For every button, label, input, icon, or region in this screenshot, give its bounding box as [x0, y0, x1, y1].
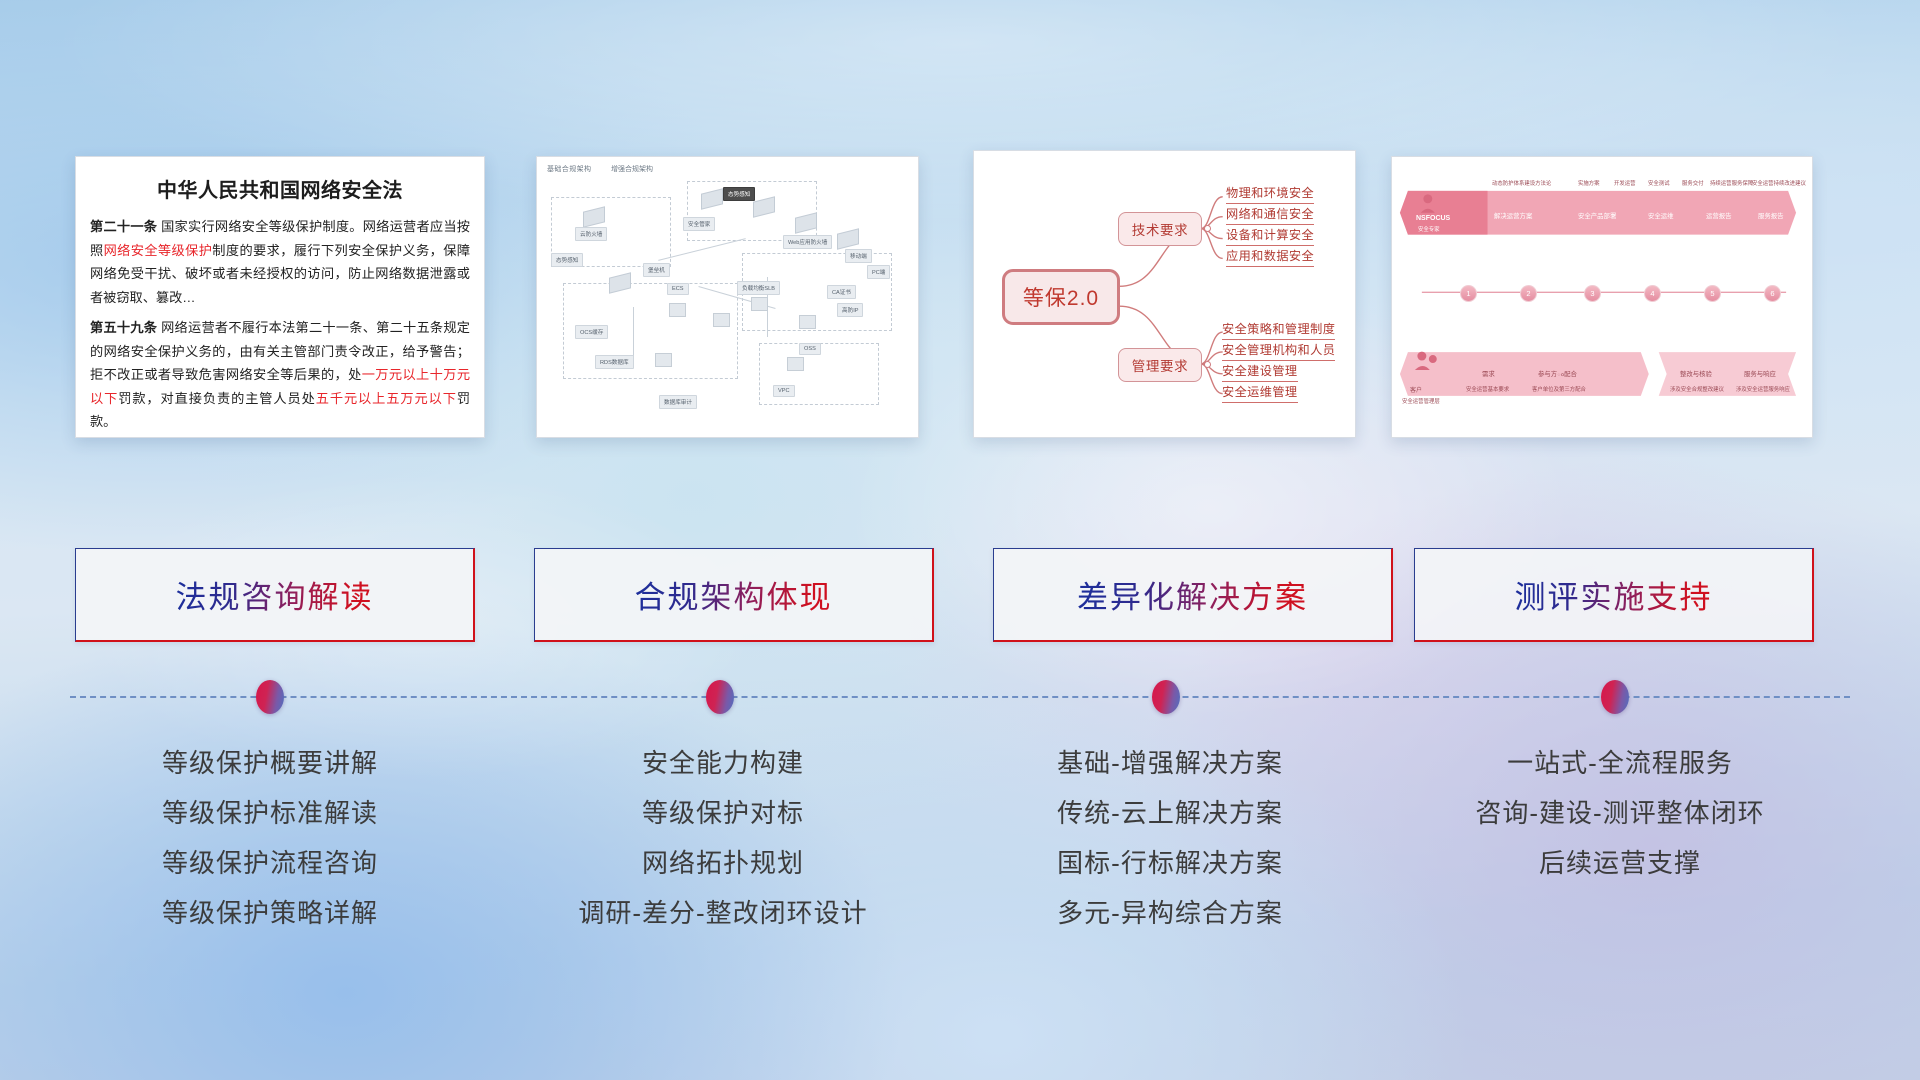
arch-chip-13: RDS数据库	[595, 355, 634, 369]
flow-band-label-4: 服务报告	[1758, 211, 1784, 220]
flow-diagram	[1392, 157, 1812, 438]
timeline-dot-3[interactable]	[1152, 680, 1180, 714]
feature-list-4: 一站式-全流程服务 咨询-建设-测评整体闭环 后续运营支撑	[1420, 738, 1820, 888]
arch-node-11	[655, 353, 672, 367]
mindmap-leaf-m3: 安全建设管理	[1222, 361, 1298, 382]
flow-bottom-sub-0: 安全运营基本要求	[1466, 385, 1509, 393]
arch-node-9	[751, 297, 768, 311]
feature-list-2: 安全能力构建 等级保护对标 网络拓扑规划 调研-差分-整改闭环设计	[523, 738, 923, 938]
list-item: 调研-差分-整改闭环设计	[523, 888, 923, 938]
list-item: 一站式-全流程服务	[1420, 738, 1820, 788]
flow-top-label-1: 实施方案	[1578, 179, 1600, 187]
flow-top-label-0: 动态防护体系建设方法论	[1492, 179, 1551, 187]
law-article-21: 第二十一条 国家实行网络安全等级保护制度。网络运营者应当按照网络安全等级保护制度…	[76, 215, 484, 309]
arch-chip-7: CA证书	[827, 285, 856, 299]
arch-chip-1: 态势感知	[551, 253, 583, 267]
flow-bottom-label-0: 需求	[1482, 369, 1495, 378]
headline-box-2-label: 合规架构体现	[635, 572, 833, 617]
law-article-59-text-b: 罚款，对直接负责的主管人员处	[118, 391, 316, 406]
arch-chip-4: 移动端	[845, 249, 872, 263]
headline-box-3-label: 差异化解决方案	[1077, 572, 1308, 617]
thumbnail-card-mindmap[interactable]: 等保2.0 技术要求 管理要求 物理和环境安全 网络和通信安全 设备和计算安全 …	[973, 150, 1356, 438]
flow-brand: NSFOCUS	[1416, 215, 1450, 222]
law-article-21-label: 第二十一条	[90, 219, 157, 234]
timeline-dot-2[interactable]	[706, 680, 734, 714]
flow-top-label-6: 安全运营持续改进建议	[1752, 179, 1806, 187]
flow-top-label-4: 服务交付	[1682, 179, 1704, 187]
flow-bottom-right-sub-1: 涉及安全运营服务响应	[1736, 385, 1790, 393]
flow-brand-sub: 安全专家	[1418, 225, 1440, 233]
mindmap-leaf-t3: 设备和计算安全	[1226, 225, 1314, 246]
arch-chip-15: 数据库审计	[659, 395, 697, 409]
timeline-dot-1[interactable]	[256, 680, 284, 714]
arch-node-7	[669, 303, 686, 317]
flow-step-3: 3	[1584, 285, 1601, 302]
mindmap-dot-technical	[1204, 225, 1211, 232]
flow-top-label-5: 持续运营服务保障	[1710, 179, 1753, 187]
flow-step-2: 2	[1520, 285, 1537, 302]
flow-step-5: 5	[1704, 285, 1721, 302]
arch-chip-10: 负载均衡SLB	[737, 281, 780, 295]
arch-chip-5: PC端	[867, 265, 890, 279]
flow-band-label-3: 运营报告	[1706, 211, 1732, 220]
law-article-59: 第五十九条 网络运营者不履行本法第二十一条、第二十五条规定的网络安全保护义务的，…	[76, 316, 484, 434]
timeline-dashed-line	[70, 696, 1850, 698]
list-item: 多元-异构综合方案	[970, 888, 1370, 938]
flow-bottom-left-label: 客户	[1410, 385, 1422, 394]
list-item: 等级保护概要讲解	[70, 738, 470, 788]
arch-chip-14: VPC	[773, 385, 795, 397]
list-item: 网络拓扑规划	[523, 838, 923, 888]
thumbnail-card-law[interactable]: 中华人民共和国网络安全法 第二十一条 国家实行网络安全等级保护制度。网络运营者应…	[75, 156, 485, 438]
list-item: 咨询-建设-测评整体闭环	[1420, 788, 1820, 838]
list-item: 后续运营支撑	[1420, 838, 1820, 888]
flow-bottom-left-sub: 安全运营管理层	[1402, 397, 1440, 405]
flow-top-label-2: 开发运营	[1614, 179, 1636, 187]
law-article-59-highlight-2: 五千元以上五万元以下	[316, 391, 457, 406]
flow-band-label-0: 解决运营方案	[1494, 211, 1532, 220]
arch-chip-shield: 态势感知	[723, 187, 755, 201]
flow-step-4: 4	[1644, 285, 1661, 302]
law-article-59-label: 第五十九条	[90, 320, 157, 335]
list-item: 国标-行标解决方案	[970, 838, 1370, 888]
mindmap-dot-management	[1204, 361, 1211, 368]
flow-step-6: 6	[1764, 285, 1781, 302]
arch-header-right: 增强合规架构	[611, 164, 653, 174]
arch-node-8	[713, 313, 730, 327]
flow-top-label-3: 安全测试	[1648, 179, 1670, 187]
mindmap-root: 等保2.0	[1002, 269, 1120, 325]
feature-list-1: 等级保护概要讲解 等级保护标准解读 等级保护流程咨询 等级保护策略详解	[70, 738, 470, 938]
mindmap-branch-technical: 技术要求	[1118, 212, 1202, 246]
flow-bottom-sub-1: 客户单位及第三方配合	[1532, 385, 1586, 393]
headline-box-1-label: 法规咨询解读	[176, 572, 374, 617]
headline-box-4-label: 测评实施支持	[1515, 572, 1713, 617]
mindmap-leaf-m2: 安全管理机构和人员	[1222, 340, 1335, 361]
mindmap-leaf-t1: 物理和环境安全	[1226, 183, 1314, 204]
mindmap-leaf-t2: 网络和通信安全	[1226, 204, 1314, 225]
flow-bottom-right-sub-0: 涉及安全合规整改建议	[1670, 385, 1724, 393]
flow-step-1: 1	[1460, 285, 1477, 302]
mindmap-leaf-m4: 安全运维管理	[1222, 382, 1298, 403]
law-title: 中华人民共和国网络安全法	[76, 174, 484, 203]
arch-chip-0: 云防火墙	[575, 227, 607, 241]
flow-bottom-label-1: 参与方ం配合	[1538, 369, 1577, 380]
arch-node-10	[799, 315, 816, 329]
timeline-dot-4[interactable]	[1601, 680, 1629, 714]
arch-chip-3: Web应用防火墙	[783, 235, 832, 249]
list-item: 基础-增强解决方案	[970, 738, 1370, 788]
arch-chip-12: OSS	[799, 343, 821, 355]
law-article-21-highlight: 网络安全等级保护	[104, 243, 213, 258]
arch-chip-11: OCS缓存	[575, 325, 608, 339]
feature-list-3: 基础-增强解决方案 传统-云上解决方案 国标-行标解决方案 多元-异构综合方案	[970, 738, 1370, 938]
flow-bottom-right-label-1: 服务与响应	[1744, 369, 1776, 378]
arch-chip-9: ECS	[667, 283, 689, 295]
list-item: 等级保护流程咨询	[70, 838, 470, 888]
mindmap-leaf-m1: 安全策略和管理制度	[1222, 319, 1335, 340]
flow-band-label-2: 安全运维	[1648, 211, 1674, 220]
arch-node-12	[787, 357, 804, 371]
arch-node-5	[837, 228, 859, 249]
arch-header-left: 基础合规架构	[547, 164, 591, 174]
mindmap-leaf-t4: 应用和数据安全	[1226, 246, 1314, 267]
headline-box-2[interactable]: 合规架构体现	[534, 548, 934, 642]
mindmap-branch-management: 管理要求	[1118, 348, 1202, 382]
list-item: 传统-云上解决方案	[970, 788, 1370, 838]
arch-link-3	[633, 307, 634, 359]
arch-chip-8: 高防IP	[837, 303, 863, 317]
thumbnail-card-flow[interactable]: NSFOCUS 安全专家 动态防护体系建设方法论 实施方案 开发运营 安全测试 …	[1391, 156, 1813, 438]
arch-chip-6: 堡垒机	[643, 263, 670, 277]
headline-box-4[interactable]: 测评实施支持	[1414, 548, 1814, 642]
flow-bottom-right-label-0: 整改与核验	[1680, 369, 1712, 378]
list-item: 等级保护对标	[523, 788, 923, 838]
list-item: 等级保护策略详解	[70, 888, 470, 938]
flow-band-label-1: 安全产品部署	[1578, 211, 1616, 220]
arch-chip-2: 安全管家	[683, 217, 715, 231]
arch-link-1	[658, 238, 746, 261]
headline-box-3[interactable]: 差异化解决方案	[993, 548, 1393, 642]
list-item: 安全能力构建	[523, 738, 923, 788]
list-item: 等级保护标准解读	[70, 788, 470, 838]
thumbnail-card-architecture[interactable]: 基础合规架构 增强合规架构 态势感知 云防火墙 态势感知 安全管家 Web应用防…	[536, 156, 919, 438]
headline-box-1[interactable]: 法规咨询解读	[75, 548, 475, 642]
